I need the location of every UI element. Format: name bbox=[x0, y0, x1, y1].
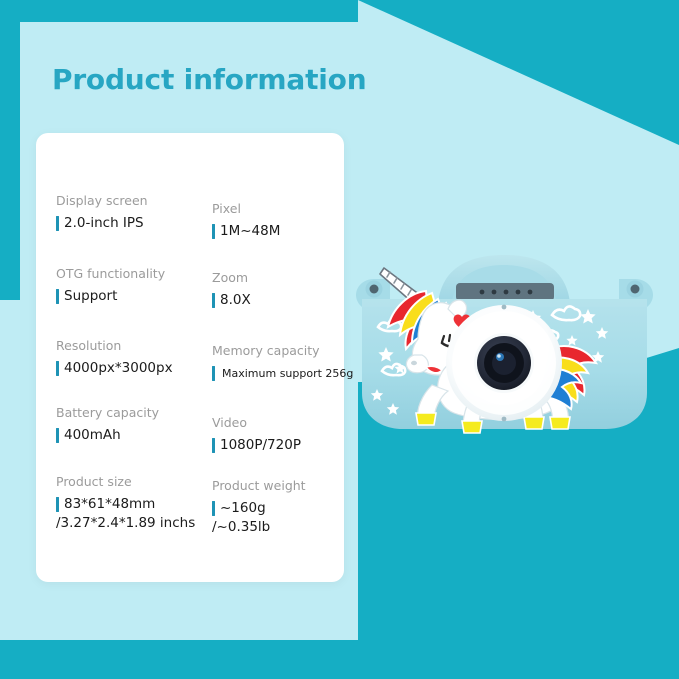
product-photo-kids-unicorn-camera bbox=[330, 243, 679, 443]
spec-label: Product weight bbox=[212, 478, 306, 493]
spec-value-secondary: /~0.35lb bbox=[212, 518, 306, 536]
accent-bar-icon bbox=[212, 293, 215, 308]
camera-lens bbox=[446, 305, 562, 422]
accent-bar-icon bbox=[212, 366, 215, 381]
spec-product-weight: Product weight ~160g /~0.35lb bbox=[212, 478, 306, 536]
spec-value-row: 8.0X bbox=[212, 292, 251, 309]
spec-value: 1080P/720P bbox=[220, 437, 301, 454]
spec-label: Product size bbox=[56, 474, 195, 489]
camera-vent-strip bbox=[456, 283, 554, 301]
spec-value: ~160g bbox=[220, 500, 266, 517]
spec-resolution: Resolution 4000px*3000px bbox=[56, 338, 173, 377]
spec-display-screen: Display screen 2.0-inch IPS bbox=[56, 193, 148, 232]
accent-bar-icon bbox=[212, 501, 215, 516]
spec-label: Display screen bbox=[56, 193, 148, 208]
spec-zoom: Zoom 8.0X bbox=[212, 270, 251, 309]
spec-value-row: 1M~48M bbox=[212, 223, 280, 240]
spec-label: OTG functionality bbox=[56, 266, 165, 281]
spec-label: Video bbox=[212, 415, 301, 430]
spec-value: 2.0-inch IPS bbox=[64, 215, 144, 232]
spec-value: 1M~48M bbox=[220, 223, 280, 240]
spec-value-row: Support bbox=[56, 288, 165, 305]
spec-product-size: Product size 83*61*48mm /3.27*2.4*1.89 i… bbox=[56, 474, 195, 532]
spec-label: Resolution bbox=[56, 338, 173, 353]
spec-label: Zoom bbox=[212, 270, 251, 285]
spec-battery-capacity: Battery capacity 400mAh bbox=[56, 405, 159, 444]
spec-pixel: Pixel 1M~48M bbox=[212, 201, 280, 240]
spec-label: Pixel bbox=[212, 201, 280, 216]
spec-value: 4000px*3000px bbox=[64, 360, 173, 377]
product-information-graphic: Product information Display screen 2.0-i… bbox=[0, 0, 679, 679]
spec-value: 83*61*48mm bbox=[64, 496, 155, 513]
specifications-grid: Display screen 2.0-inch IPS Pixel 1M~48M… bbox=[36, 133, 344, 582]
spec-value-row: 4000px*3000px bbox=[56, 360, 173, 377]
spec-video: Video 1080P/720P bbox=[212, 415, 301, 454]
spec-value-row: 400mAh bbox=[56, 427, 159, 444]
spec-value-row: 83*61*48mm bbox=[56, 496, 195, 513]
specifications-card: Display screen 2.0-inch IPS Pixel 1M~48M… bbox=[36, 133, 344, 582]
spec-value-row: ~160g bbox=[212, 500, 306, 517]
spec-value: Support bbox=[64, 288, 117, 305]
spec-value: 8.0X bbox=[220, 292, 251, 309]
spec-value-row: 2.0-inch IPS bbox=[56, 215, 148, 232]
page-title: Product information bbox=[52, 63, 366, 96]
accent-bar-icon bbox=[56, 216, 59, 231]
accent-bar-icon bbox=[56, 289, 59, 304]
accent-bar-icon bbox=[56, 497, 59, 512]
spec-otg-functionality: OTG functionality Support bbox=[56, 266, 165, 305]
accent-bar-icon bbox=[212, 224, 215, 239]
spec-label: Battery capacity bbox=[56, 405, 159, 420]
accent-bar-icon bbox=[56, 428, 59, 443]
spec-value: 400mAh bbox=[64, 427, 121, 444]
spec-value-secondary: /3.27*2.4*1.89 inchs bbox=[56, 514, 195, 532]
accent-bar-icon bbox=[56, 361, 59, 376]
accent-bar-icon bbox=[212, 438, 215, 453]
spec-value-row: 1080P/720P bbox=[212, 437, 301, 454]
